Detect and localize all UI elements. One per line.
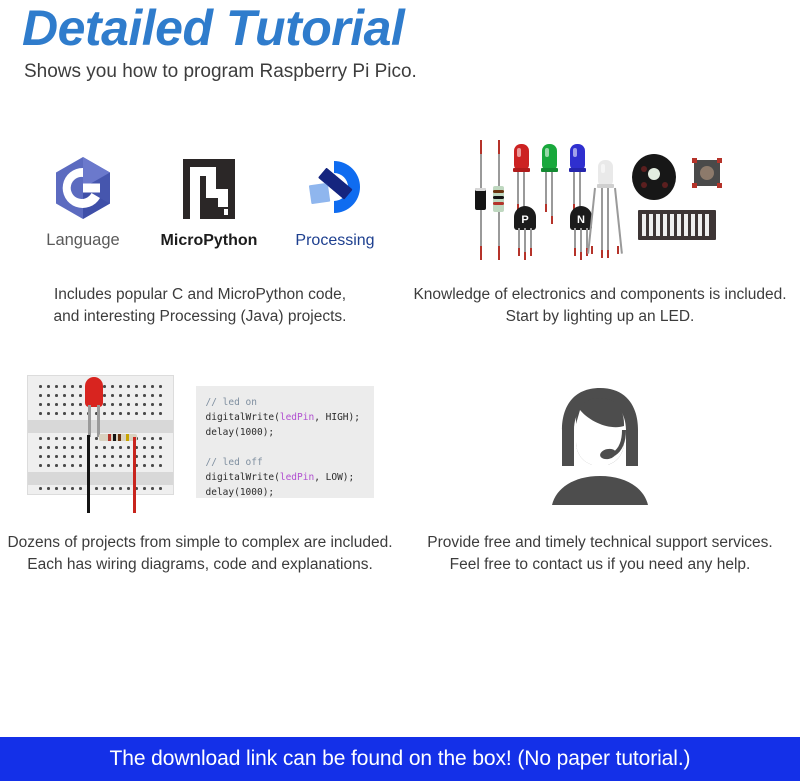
black-jumper-wire: [87, 435, 90, 513]
logo-item-c: Language: [33, 151, 133, 249]
code-comment-led-off: // led off: [206, 457, 263, 468]
components-caption-line2: Start by lighting up an LED.: [413, 306, 786, 328]
support-caption-line2: Feel free to contact us if you need any …: [427, 554, 772, 576]
components-caption: Knowledge of electronics and components …: [407, 284, 792, 328]
download-link-banner-text: The download link can be found on the bo…: [110, 747, 691, 771]
projects-caption: Dozens of projects from simple to comple…: [1, 532, 398, 576]
panel-support: Provide free and timely technical suppor…: [400, 362, 800, 576]
logo-item-processing: Processing: [285, 152, 385, 249]
support-caption-line1: Provide free and timely technical suppor…: [427, 532, 772, 554]
code-line-delay-2: delay(1000);: [206, 487, 275, 498]
npn-transistor-label: N: [570, 206, 592, 230]
languages-caption-line2: and interesting Processing (Java) projec…: [54, 306, 347, 328]
code-comment-led-on: // led on: [206, 397, 257, 408]
feature-panels: Language: [0, 120, 800, 576]
header: Detailed Tutorial Shows you how to progr…: [0, 0, 800, 84]
logo-label-micropython: MicroPython: [161, 233, 258, 249]
red-jumper-wire: [133, 437, 136, 513]
processing-logo-icon: [304, 152, 366, 226]
micropython-logo-icon: [180, 152, 238, 226]
code-line-delay-1: delay(1000);: [206, 427, 275, 438]
projects-caption-line2: Each has wiring diagrams, code and expla…: [7, 554, 392, 576]
languages-caption-line1: Includes popular C and MicroPython code,: [54, 284, 347, 306]
languages-caption: Includes popular C and MicroPython code,…: [48, 284, 353, 328]
panel-components: P N: [400, 120, 800, 328]
panel-projects: // led on digitalWrite(ledPin, HIGH); de…: [0, 362, 400, 576]
panel-row-bottom: // led on digitalWrite(ledPin, HIGH); de…: [0, 362, 800, 576]
projects-artwork: // led on digitalWrite(ledPin, HIGH); de…: [0, 362, 400, 522]
components-cluster: P N: [450, 138, 750, 263]
breadboard-holes-bottom: [37, 484, 165, 493]
code-line-write-low-pre: digitalWrite(: [206, 472, 280, 483]
page-title: Detailed Tutorial: [22, 2, 800, 55]
breadboard-diagram: [27, 367, 182, 517]
code-snippet: // led on digitalWrite(ledPin, HIGH); de…: [196, 386, 374, 498]
languages-artwork: Language: [0, 120, 400, 280]
logo-group: Language: [33, 151, 385, 249]
panel-row-top: Language: [0, 120, 800, 328]
projects-caption-line1: Dozens of projects from simple to comple…: [7, 532, 392, 554]
breadboard-led: [85, 377, 103, 407]
c-logo-icon: [53, 151, 113, 225]
code-line-write-low-post: , LOW);: [314, 472, 354, 483]
code-var-ledpin-2: ledPin: [280, 472, 314, 483]
code-var-ledpin-1: ledPin: [280, 412, 314, 423]
support-artwork: [400, 362, 800, 522]
components-caption-line1: Knowledge of electronics and components …: [413, 284, 786, 306]
support-caption: Provide free and timely technical suppor…: [421, 532, 778, 576]
code-line-write-high-pre: digitalWrite(: [206, 412, 280, 423]
components-artwork: P N: [400, 120, 800, 280]
panel-languages: Language: [0, 120, 400, 328]
support-agent-icon: [540, 380, 660, 505]
logo-label-language: Language: [46, 232, 119, 249]
logo-label-processing: Processing: [295, 233, 374, 249]
pnp-transistor-label: P: [514, 206, 536, 230]
code-line-write-high-post: , HIGH);: [314, 412, 360, 423]
led-anode-lead: [88, 405, 91, 437]
breadboard-resistor: [99, 434, 137, 441]
page-subtitle: Shows you how to program Raspberry Pi Pi…: [24, 61, 800, 84]
led-cathode-lead: [97, 405, 100, 437]
logo-item-micropython: MicroPython: [159, 152, 259, 249]
download-link-banner: The download link can be found on the bo…: [0, 737, 800, 781]
